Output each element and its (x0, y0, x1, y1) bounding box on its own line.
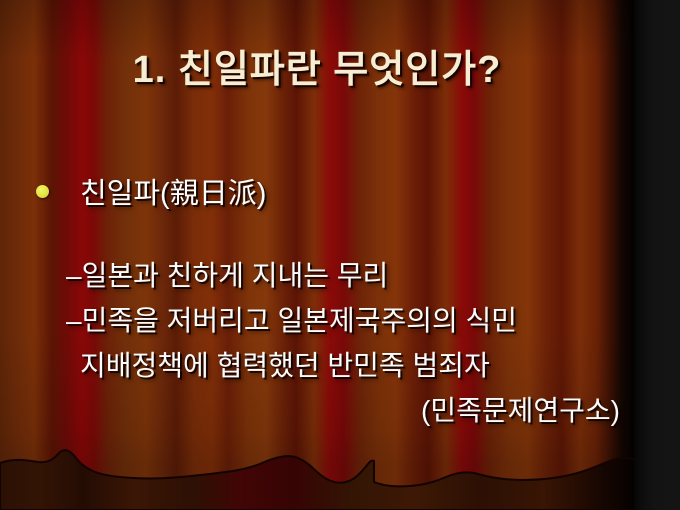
slide-title: 1. 친일파란 무엇인가? (0, 38, 634, 93)
sub-item-1: –일본과 친하게 지내는 무리 (66, 253, 632, 298)
filled-circle-bullet-icon (36, 185, 49, 198)
bullet-item-1: 친일파(親日派) (36, 170, 266, 212)
curtain-hem (0, 430, 640, 510)
sub-item-4-source: (민족문제연구소) (66, 388, 632, 433)
sub-item-3: 지배정책에 협력했던 반민족 범죄자 (66, 343, 632, 388)
sub-item-list: –일본과 친하게 지내는 무리 –민족을 저버리고 일본제국주의의 식민 지배정… (66, 253, 632, 433)
right-side-panel (634, 0, 680, 510)
bullet-item-1-label: 친일파(親日派) (80, 170, 266, 212)
sub-item-2: –민족을 저버리고 일본제국주의의 식민 (66, 298, 632, 343)
presentation-slide: 1. 친일파란 무엇인가? 친일파(親日派) –일본과 친하게 지내는 무리 –… (0, 0, 680, 510)
